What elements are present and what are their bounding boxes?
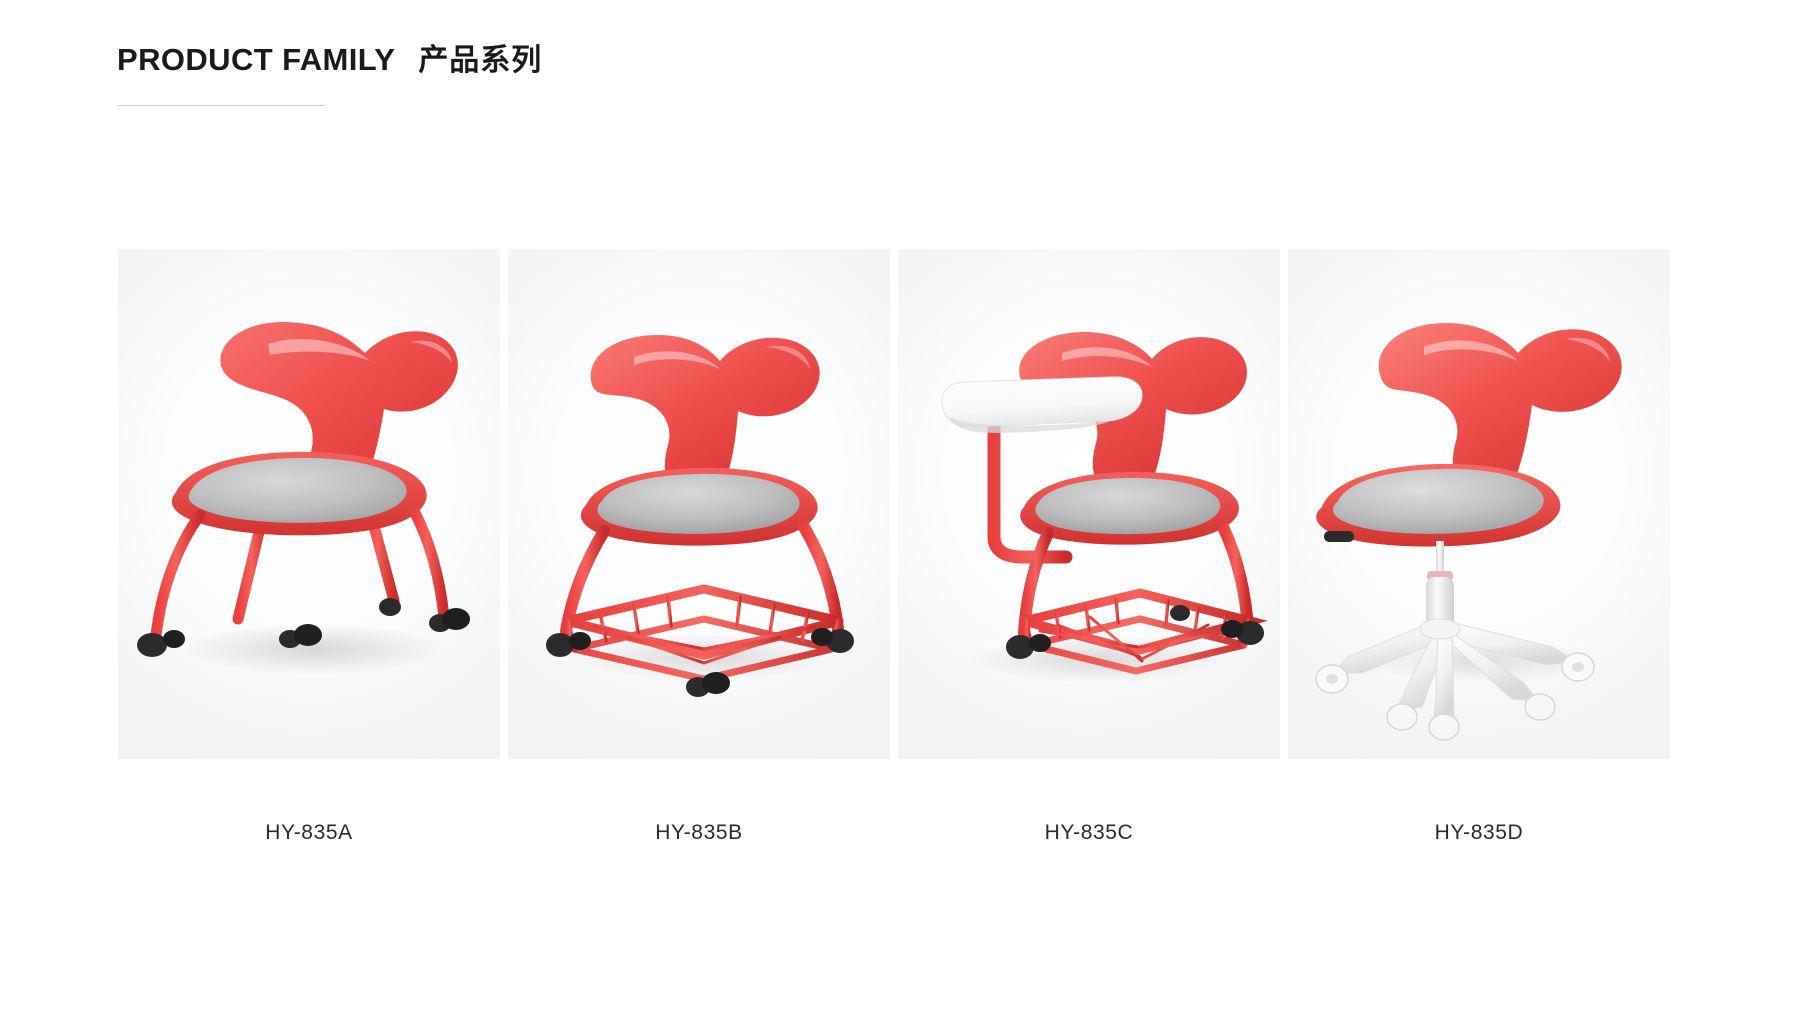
product-label-hy-835d: HY-835D — [1435, 821, 1524, 845]
product-card-c[interactable]: HY-835C — [898, 249, 1280, 845]
product-card-b[interactable]: HY-835B — [508, 249, 890, 845]
product-label-hy-835b: HY-835B — [655, 821, 742, 845]
product-label-hy-835c: HY-835C — [1045, 821, 1134, 845]
product-image-hy-835a[interactable] — [118, 249, 500, 759]
product-image-hy-835b[interactable] — [508, 249, 890, 759]
page-title-chinese: 产品系列 — [418, 46, 542, 76]
product-card-a[interactable]: HY-835A — [118, 249, 500, 845]
title-divider-rule — [117, 105, 325, 106]
page-title: PRODUCT FAMILY 产品系列 — [117, 44, 1017, 76]
product-label-hy-835a: HY-835A — [265, 821, 352, 845]
page-header: PRODUCT FAMILY 产品系列 — [117, 44, 1017, 106]
product-image-hy-835c[interactable] — [898, 249, 1280, 759]
page-title-english: PRODUCT FAMILY — [117, 44, 395, 75]
product-card-d[interactable]: HY-835D — [1288, 249, 1670, 845]
product-image-hy-835d[interactable] — [1288, 249, 1670, 759]
product-gallery: HY-835A — [118, 249, 1688, 845]
